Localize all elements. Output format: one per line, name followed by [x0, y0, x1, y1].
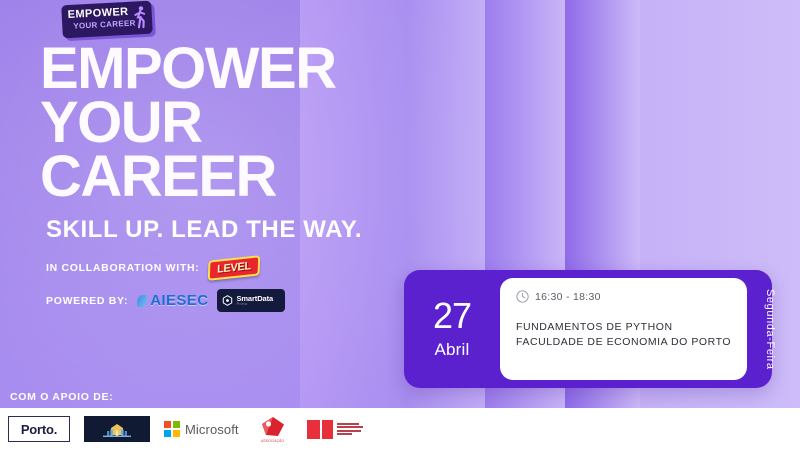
event-weekday: Segunda-Feira — [764, 289, 776, 370]
red-diamond-caption: ASSOCIAÇÃO — [261, 439, 284, 443]
red-blocks-text-lines — [337, 423, 363, 436]
support-label: COM O APOIO DE: — [10, 391, 113, 403]
event-card[interactable]: 27 Abril 16:30 - 18:30 FUNDAMENTOS DE PY… — [404, 270, 772, 388]
event-title: FUNDAMENTOS DE PYTHON — [516, 320, 731, 335]
collaboration-row: IN COLLABORATION WITH: LEVEL — [46, 258, 260, 278]
headline-line-1: EMPOWER — [40, 42, 336, 96]
page-title: EMPOWER YOUR CAREER — [40, 42, 336, 204]
smartdata-logo: SmartData Porto — [217, 289, 285, 312]
university-crest-icon — [97, 419, 137, 439]
event-date-block: 27 Abril — [404, 270, 500, 388]
event-text-lines: FUNDAMENTOS DE PYTHON FACULDADE DE ECONO… — [516, 320, 731, 350]
red-blocks-icon — [307, 420, 333, 439]
level-partner-logo-text: LEVEL — [217, 260, 251, 276]
event-venue: FACULDADE DE ECONOMIA DO PORTO — [516, 335, 731, 350]
sponsor-logo-red-blocks — [307, 420, 363, 439]
sponsor-logo-microsoft: Microsoft — [164, 421, 239, 437]
aiesec-logo: AIESEC — [137, 292, 208, 309]
sponsor-bar: Porto. Microsoft — [0, 408, 800, 450]
sponsor-logo-microsoft-text: Microsoft — [185, 422, 239, 437]
event-weekday-strip: Segunda-Feira — [747, 270, 793, 388]
sponsor-logo-porto: Porto. — [8, 416, 70, 442]
sponsor-logo-red-diamond: ASSOCIAÇÃO — [253, 414, 293, 444]
poster-canvas: EMPOWER YOUR CAREER EMPOWER YOUR CAREER … — [0, 0, 800, 450]
powered-by-row: POWERED BY: AIESEC SmartData Porto — [46, 289, 285, 312]
aiesec-swoosh-icon — [137, 295, 147, 307]
level-partner-logo: LEVEL — [208, 255, 260, 281]
microsoft-squares-icon — [164, 421, 180, 437]
clock-icon — [516, 290, 529, 303]
running-figure-icon — [132, 5, 147, 30]
aiesec-logo-text: AIESEC — [150, 292, 208, 309]
red-diamond-icon — [260, 416, 286, 438]
sponsor-logo-porto-text: Porto. — [21, 422, 57, 437]
event-month: Abril — [434, 340, 469, 360]
powered-by-label: POWERED BY: — [46, 295, 128, 307]
sponsor-logo-university-crest — [84, 416, 150, 442]
subheadline: SKILL UP. LEAD THE WAY. — [46, 216, 362, 244]
headline-line-3: CAREER — [40, 150, 336, 204]
brand-logo-line2: YOUR CAREER — [73, 20, 136, 31]
event-details: 16:30 - 18:30 FUNDAMENTOS DE PYTHON FACU… — [500, 278, 747, 380]
event-time: 16:30 - 18:30 — [535, 291, 601, 303]
brand-logo-badge: EMPOWER YOUR CAREER — [61, 1, 153, 39]
headline-line-2: YOUR — [40, 96, 336, 150]
event-day: 27 — [433, 298, 471, 334]
event-time-row: 16:30 - 18:30 — [516, 290, 731, 303]
smartdata-mark-icon — [222, 295, 233, 306]
collaboration-label: IN COLLABORATION WITH: — [46, 262, 199, 274]
smartdata-logo-subtext: Porto — [236, 302, 273, 306]
